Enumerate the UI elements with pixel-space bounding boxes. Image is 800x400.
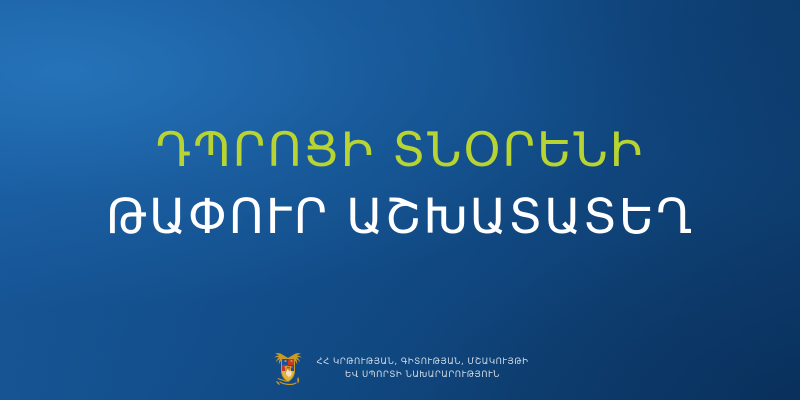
ministry-name-line-2: ԵՎ ՍՊՈՐՏԻ ՆԱԽԱՐԱՐՈՒԹՅՈՒՆ	[345, 369, 500, 381]
announcement-banner: ԴՊՐՈՑԻ ՏՆՕՐԵՆԻ ԹԱՓՈՒՐ ԱՇԽԱՏԱՏԵՂ	[0, 0, 800, 400]
ministry-name-line-1: ՀՀ ԿՐԹՈՒԹՅԱՆ, ԳԻՏՈՒԹՅԱՆ, ՄՇԱԿՈՒՅԹԻ	[316, 356, 528, 368]
headline-line-1: ԴՊՐՈՑԻ ՏՆՕՐԵՆԻ	[0, 118, 800, 184]
armenia-coat-of-arms-icon	[271, 348, 305, 388]
headline-block: ԴՊՐՈՑԻ ՏՆՕՐԵՆԻ ԹԱՓՈՒՐ ԱՇԽԱՏԱՏԵՂ	[0, 118, 800, 250]
ministry-name: ՀՀ ԿՐԹՈՒԹՅԱՆ, ԳԻՏՈՒԹՅԱՆ, ՄՇԱԿՈՒՅԹԻ ԵՎ ՍՊ…	[316, 356, 528, 381]
ministry-footer: ՀՀ ԿՐԹՈՒԹՅԱՆ, ԳԻՏՈՒԹՅԱՆ, ՄՇԱԿՈՒՅԹԻ ԵՎ ՍՊ…	[0, 348, 800, 388]
headline-line-2: ԹԱՓՈՒՐ ԱՇԽԱՏԱՏԵՂ	[0, 184, 800, 250]
